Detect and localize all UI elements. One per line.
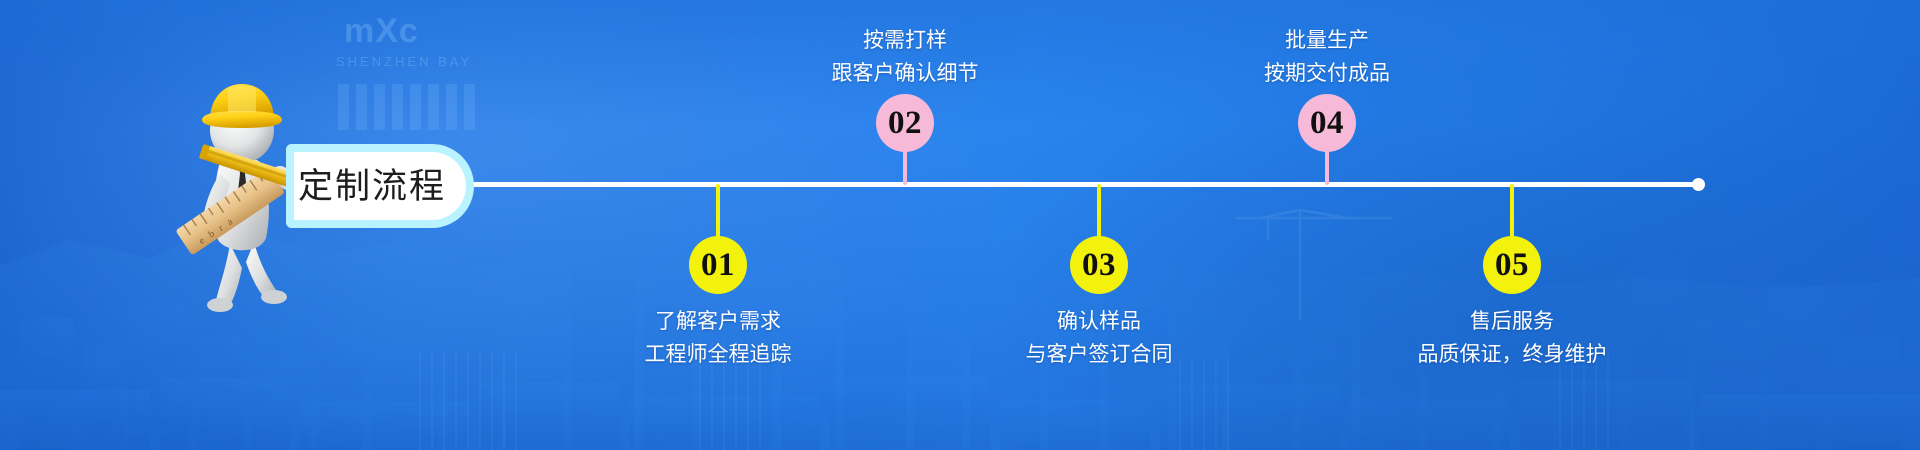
- step-caption-04: 批量生产 按期交付成品: [1264, 24, 1390, 90]
- step-caption-04-line2: 按期交付成品: [1264, 57, 1390, 90]
- step-caption-03-line1: 确认样品: [1026, 305, 1173, 338]
- step-caption-05-line2: 品质保证，终身维护: [1418, 338, 1607, 371]
- process-title-pill: 定制流程: [286, 144, 474, 228]
- step-caption-01-line1: 了解客户需求: [645, 305, 792, 338]
- step-caption-05-line1: 售后服务: [1418, 305, 1607, 338]
- step-caption-05: 售后服务 品质保证，终身维护: [1418, 305, 1607, 371]
- step-badge-01[interactable]: 01: [689, 236, 747, 294]
- step-badge-03[interactable]: 03: [1070, 236, 1128, 294]
- step-badge-04[interactable]: 04: [1298, 94, 1356, 152]
- step-caption-03-line2: 与客户签订合同: [1026, 338, 1173, 371]
- step-caption-04-line1: 批量生产: [1264, 24, 1390, 57]
- step-caption-03: 确认样品 与客户签订合同: [1026, 305, 1173, 371]
- timeline-end-dot: [1692, 178, 1705, 191]
- step-caption-02-line2: 跟客户确认细节: [832, 57, 979, 90]
- page-title: 定制流程: [294, 169, 446, 204]
- step-caption-01: 了解客户需求 工程师全程追踪: [645, 305, 792, 371]
- banner-stage: mXc SHENZHEN BAY: [0, 0, 1920, 450]
- step-caption-02-line1: 按需打样: [832, 24, 979, 57]
- svg-text:SHENZHEN BAY: SHENZHEN BAY: [336, 54, 472, 69]
- step-badge-02[interactable]: 02: [876, 94, 934, 152]
- step-caption-02: 按需打样 跟客户确认细节: [832, 24, 979, 90]
- step-caption-01-line2: 工程师全程追踪: [645, 338, 792, 371]
- svg-text:mXc: mXc: [344, 12, 419, 50]
- step-badge-05[interactable]: 05: [1483, 236, 1541, 294]
- watermark-logo-mxc: mXc SHENZHEN BAY: [330, 0, 490, 130]
